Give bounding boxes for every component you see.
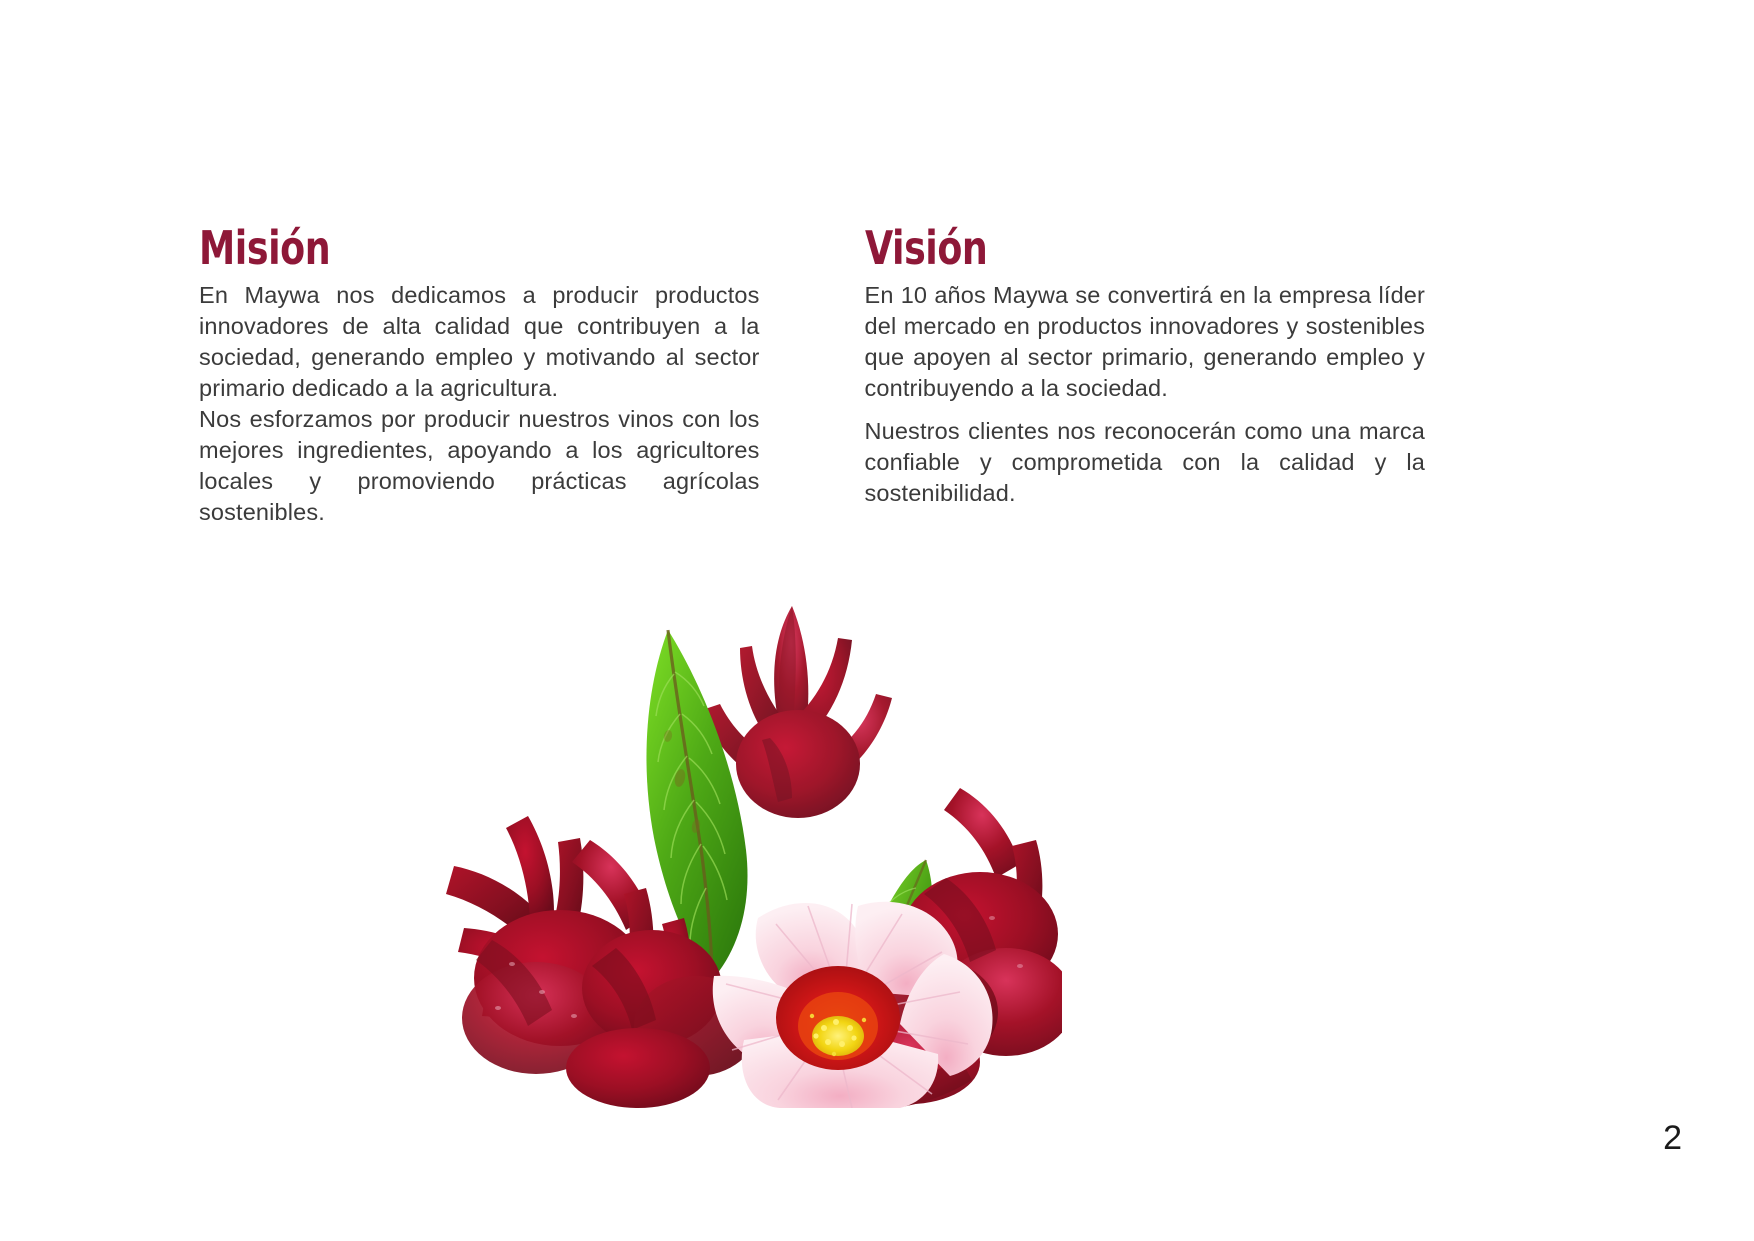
mision-heading: Misión xyxy=(199,222,692,274)
vision-paragraph-1: En 10 años Maywa se convertirá en la emp… xyxy=(865,280,1426,404)
mision-paragraph-2: Nos esforzamos por producir nuestros vin… xyxy=(199,404,760,528)
vision-heading: Visión xyxy=(865,222,1358,274)
section-mision: Misión En Maywa nos dedicamos a producir… xyxy=(199,222,760,528)
vision-paragraph-2: Nuestros clientes nos reconocerán como u… xyxy=(865,416,1426,509)
roselle-hibiscus-image xyxy=(440,588,1062,1108)
page-number: 2 xyxy=(1663,1121,1682,1155)
leaf-primary xyxy=(646,630,747,980)
document-page: Misión En Maywa nos dedicamos a producir… xyxy=(0,0,1754,1241)
section-vision: Visión En 10 años Maywa se convertirá en… xyxy=(865,222,1426,509)
content-columns: Misión En Maywa nos dedicamos a producir… xyxy=(199,222,1425,528)
roselle-hibiscus-illustration xyxy=(440,588,1062,1108)
mision-paragraph-1: En Maywa nos dedicamos a producir produc… xyxy=(199,280,760,404)
